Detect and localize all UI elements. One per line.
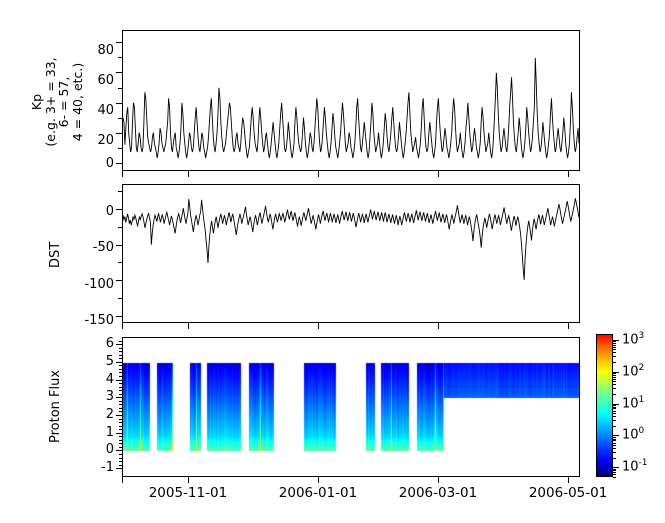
kp-major-tick [116, 72, 122, 73]
colorbar-minor-tick [613, 440, 616, 441]
flux-minor-tick [119, 411, 122, 412]
flux-major-tick [116, 450, 122, 451]
flux-ytick-label-4: 4 [88, 373, 114, 386]
panel-2-xtick [188, 477, 189, 483]
flux-minor-tick [119, 401, 122, 402]
flux-ytick-label-0: 0 [88, 443, 114, 456]
dst-minor-tick [118, 298, 122, 299]
colorbar-minor-tick [613, 420, 616, 421]
flux-minor-tick [119, 383, 122, 384]
dst-trace [123, 185, 579, 322]
flux-minor-tick [119, 426, 122, 427]
panel-kp [122, 30, 580, 171]
colorbar-minor-tick [613, 375, 616, 376]
panel-dst [122, 184, 580, 323]
kp-major-tick [116, 163, 122, 164]
kp-axis-label-line-1: Kp [30, 32, 44, 172]
colorbar-minor-tick [613, 362, 616, 363]
dst-major-tick [116, 316, 122, 317]
colorbar-minor-tick [613, 439, 616, 440]
flux-minor-tick [119, 419, 122, 420]
colorbar-minor-tick [613, 388, 616, 389]
kp-minor-tick [118, 118, 122, 119]
kp-axis-label: Kp (e.g. 3+ = 33, 6- = 57, 4 = 40, etc.) [30, 32, 84, 172]
colorbar-minor-tick [613, 477, 616, 478]
flux-minor-tick [119, 458, 122, 459]
colorbar-minor-tick [613, 356, 616, 357]
flux-minor-tick [119, 422, 122, 423]
flux-minor-tick [119, 355, 122, 356]
dst-axis-label: DST [48, 242, 63, 268]
colorbar-minor-tick [613, 474, 616, 475]
flux-major-tick [116, 433, 122, 434]
colorbar-minor-tick [613, 408, 616, 409]
flux-major-tick [116, 380, 122, 381]
flux-minor-tick [119, 394, 122, 395]
flux-minor-tick [119, 351, 122, 352]
flux-minor-tick [119, 341, 122, 342]
kp-ytick-label-60: 60 [78, 74, 114, 87]
flux-axis-label: Proton Flux [48, 370, 63, 443]
flux-minor-tick [119, 408, 122, 409]
colorbar-tick-label-0: 10-1 [622, 458, 648, 474]
colorbar-minor-tick [613, 426, 616, 427]
xaxis-tick-label-2: 2006-03-01 [399, 485, 477, 501]
flux-ytick-label-6: 6 [88, 337, 114, 350]
colorbar-minor-tick [613, 470, 616, 471]
kp-minor-tick [118, 148, 122, 149]
colorbar-minor-tick [613, 341, 616, 342]
flux-minor-tick [119, 369, 122, 370]
flux-minor-tick [119, 465, 122, 466]
colorbar-minor-tick [613, 347, 616, 348]
flux-minor-tick [119, 447, 122, 448]
dst-ytick-label-m100: -100 [70, 278, 114, 291]
colorbar-minor-tick [613, 452, 616, 453]
flux-major-tick [116, 468, 122, 469]
kp-minor-tick [118, 57, 122, 58]
flux-major-tick [116, 362, 122, 363]
colorbar-minor-tick [613, 405, 616, 406]
dst-ytick-label-m150: -150 [70, 314, 114, 327]
xaxis-tick-label-1: 2006-01-01 [279, 485, 357, 501]
colorbar-minor-tick [613, 411, 616, 412]
panel-0-xtick [438, 171, 439, 177]
colorbar-major-tick [613, 467, 619, 468]
flux-heatmap [123, 338, 580, 477]
flux-minor-tick [119, 454, 122, 455]
kp-major-tick [116, 133, 122, 134]
panel-0-xtick [318, 171, 319, 177]
flux-minor-tick [119, 365, 122, 366]
colorbar-tick-label-4: 103 [622, 331, 644, 347]
dst-major-tick [116, 280, 122, 281]
flux-minor-tick [119, 348, 122, 349]
kp-axis-label-line-3: 6- = 57, [57, 32, 71, 172]
dst-major-tick [116, 245, 122, 246]
colorbar-minor-tick [613, 373, 616, 374]
panel-1-xtick [568, 323, 569, 329]
flux-minor-tick [119, 358, 122, 359]
flux-ytick-label-m1: -1 [88, 461, 114, 474]
colorbar-minor-tick [613, 349, 616, 350]
colorbar-minor-tick [613, 472, 616, 473]
colorbar-minor-tick [613, 381, 616, 382]
flux-minor-tick [119, 390, 122, 391]
colorbar-minor-tick [613, 407, 616, 408]
colorbar-minor-tick [613, 345, 616, 346]
flux-minor-tick [119, 461, 122, 462]
panel-0-xtick [188, 171, 189, 177]
panel-2-xtick [568, 477, 569, 483]
dst-minor-tick [118, 191, 122, 192]
flux-ytick-label-2: 2 [88, 408, 114, 421]
flux-minor-tick [119, 440, 122, 441]
colorbar-minor-tick [613, 377, 616, 378]
colorbar-minor-tick [613, 343, 616, 344]
panel-0-xtick-origin [122, 171, 123, 177]
xaxis-tick-label-3: 2006-05-01 [529, 485, 607, 501]
flux-ytick-label-3: 3 [88, 390, 114, 403]
panel-flux [122, 337, 580, 477]
panel-0-xtick [568, 171, 569, 177]
colorbar-minor-tick [613, 458, 616, 459]
kp-ytick-label-80: 80 [78, 44, 114, 57]
panel-2-xtick [438, 477, 439, 483]
flux-minor-tick [119, 404, 122, 405]
dst-minor-tick [118, 227, 122, 228]
colorbar-minor-tick [613, 445, 616, 446]
kp-major-tick [116, 103, 122, 104]
colorbar-minor-tick [613, 448, 616, 449]
colorbar-minor-tick [613, 443, 616, 444]
dst-major-tick [116, 209, 122, 210]
flux-minor-tick [119, 376, 122, 377]
flux-major-tick [116, 415, 122, 416]
panel-2-xtick [318, 477, 319, 483]
flux-ytick-label-1: 1 [88, 426, 114, 439]
colorbar-major-tick [613, 435, 619, 436]
kp-minor-tick [118, 88, 122, 89]
flux-major-tick [116, 344, 122, 345]
colorbar-minor-tick [613, 352, 616, 353]
panel-1-xtick [188, 323, 189, 329]
panel-1-xtick [318, 323, 319, 329]
flux-minor-tick [119, 429, 122, 430]
dst-minor-tick [118, 262, 122, 263]
colorbar-minor-tick [613, 413, 616, 414]
colorbar-minor-tick [613, 384, 616, 385]
kp-major-tick [116, 42, 122, 43]
colorbar-minor-tick [613, 469, 616, 470]
dst-ytick-label-0: 0 [70, 205, 114, 218]
kp-ytick-label-20: 20 [78, 134, 114, 147]
panel-1-xtick [438, 323, 439, 329]
xaxis-tick-label-0: 2005-11-01 [149, 485, 227, 501]
colorbar-minor-tick [613, 394, 616, 395]
panel-2-xtick-origin [122, 477, 123, 483]
kp-ytick-label-0: 0 [78, 157, 114, 170]
flux-major-tick [116, 397, 122, 398]
panel-1-xtick-origin [122, 323, 123, 329]
flux-ytick-label-5: 5 [88, 355, 114, 368]
figure-canvas: Kp (e.g. 3+ = 33, 6- = 57, 4 = 40, etc.)… [0, 0, 665, 523]
colorbar-minor-tick [613, 416, 616, 417]
flux-minor-tick [119, 436, 122, 437]
kp-axis-label-line-2: (e.g. 3+ = 33, [44, 32, 58, 172]
flux-minor-tick [119, 372, 122, 373]
kp-ytick-label-40: 40 [78, 104, 114, 117]
colorbar-tick-label-3: 102 [622, 363, 644, 379]
dst-ytick-label-m50: -50 [70, 241, 114, 254]
colorbar-tick-label-1: 100 [622, 426, 644, 442]
colorbar-minor-tick [613, 379, 616, 380]
kp-trace [123, 31, 579, 170]
colorbar-minor-tick [613, 437, 616, 438]
colorbar-tick-label-2: 101 [622, 395, 644, 411]
flux-minor-tick [119, 387, 122, 388]
flux-minor-tick [119, 443, 122, 444]
colorbar [596, 334, 613, 477]
